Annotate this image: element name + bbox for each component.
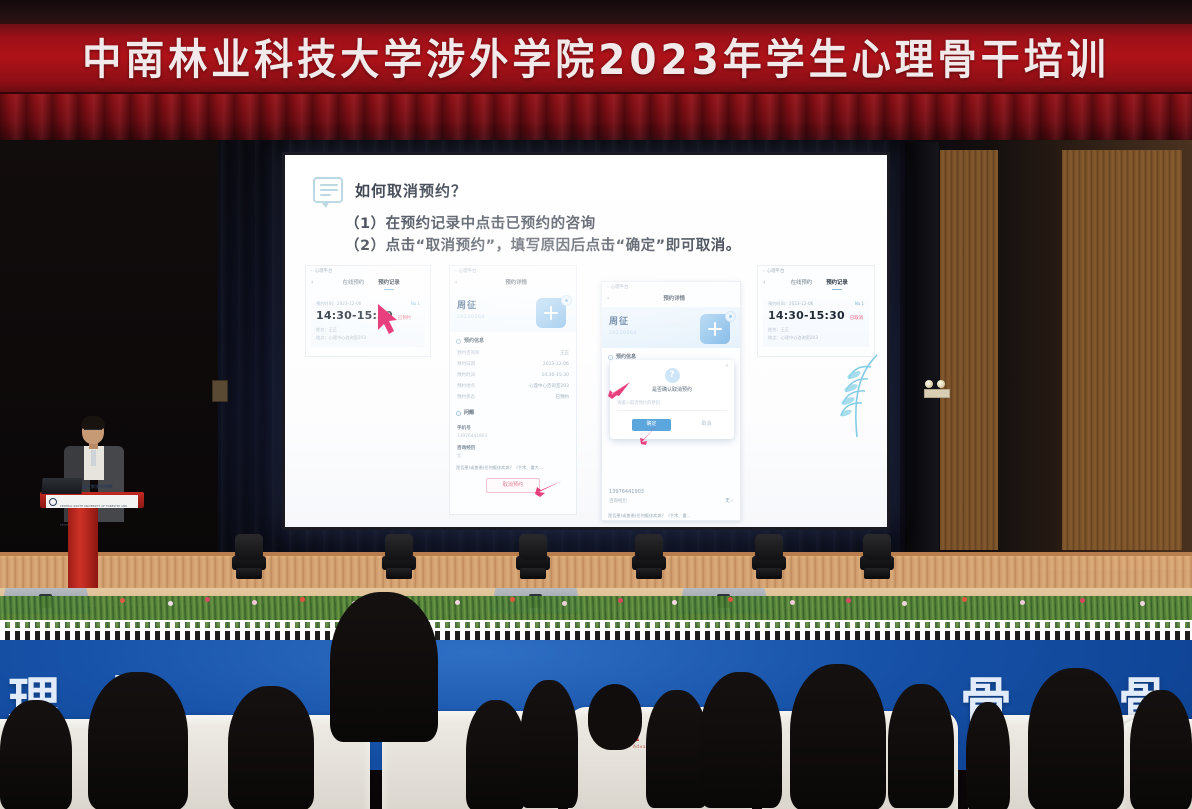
back-chevron-icon[interactable]: ‹ [607, 285, 609, 292]
phone2-phone-block: 手机号 13976441903 [450, 421, 576, 441]
cursor-arrow-icon [533, 477, 563, 499]
stage-light [382, 534, 416, 582]
phone2-breadcrumb: ‹ 心理平台 [450, 266, 576, 276]
phone4-record-card[interactable]: No.1 预约时间：2023-12-06 14:30-15:30 已取消 姓名：… [763, 297, 869, 347]
phone3-breadcrumb-label: 心理平台 [611, 285, 629, 292]
phone2-section-info: 预约信息 [450, 332, 576, 349]
phone2-back-icon[interactable]: ‹ [455, 280, 457, 286]
tab-booking-records[interactable]: 预约记录 [826, 279, 848, 287]
wood-panel [1062, 150, 1182, 550]
picket-fence [0, 620, 1192, 642]
phone1-back-icon[interactable]: ‹ [311, 280, 313, 286]
phone4-record-time: 14:30-15:30 [768, 308, 845, 325]
badge-icon [725, 311, 736, 322]
dialog-title: 是否确认取消预约 [617, 387, 727, 395]
phone4-record-meta: 预约时间：2023-12-06 [768, 301, 864, 307]
row-value: 14:30-15:30 [541, 373, 569, 380]
pointer-arrow-icon [638, 422, 662, 446]
phone1-record-timerow: 14:30-15:30 已预约 [316, 308, 420, 325]
phone2-section-info-label: 预约信息 [464, 338, 484, 346]
university-logo-icon [49, 498, 57, 506]
tab-booking-records[interactable]: 预约记录 [378, 279, 400, 287]
phone3-history-row: 咨询经历 无 › [602, 497, 740, 508]
question-mark-icon: ? [665, 368, 680, 383]
curtain-valance [0, 94, 1192, 142]
phone2-info-row: 预约状态 已预约 [450, 393, 576, 404]
phone2-info-row: 预约地点 心理中心咨询室203 [450, 382, 576, 393]
speech-bubble-icon [313, 177, 343, 203]
audience-member [588, 684, 642, 750]
row-key: 预约状态 [457, 395, 475, 402]
phone1-record-card[interactable]: No.1 预约时间：2023-12-06 14:30-15:30 已预约 姓名：… [311, 297, 425, 347]
phone1-record-tag: No.1 [411, 301, 420, 307]
phone2-navbar: ‹ 预约详情 [450, 276, 576, 291]
phone1-record-sub1: 姓名：王正 [316, 327, 420, 333]
phone2-history-block: 咨询经历 无 [450, 441, 576, 461]
audience-member [1028, 668, 1124, 809]
slide-line-1: （1）在预约记录中点击已预约的咨询 [345, 213, 741, 235]
phone-mockup-cancel-dialog: ‹ 心理平台 ‹ 预约详情 周征 20220560 [601, 281, 741, 521]
wood-panel [940, 150, 998, 550]
slide-title: 如何取消预约？ [355, 180, 467, 201]
podium-column [68, 508, 98, 588]
emergency-light-icon [925, 380, 949, 398]
phone4-record-tag: No.1 [855, 301, 864, 307]
section-dot-icon [456, 339, 461, 344]
phone3-question-line: 是否患(或曾患)任何躯体疾病？（手术、重… [602, 508, 740, 521]
phone2-breadcrumb-label: 心理平台 [459, 269, 477, 276]
phone1-record-sub2: 地点：心理中心咨询室203 [316, 335, 420, 341]
phone4-record-status: 已取消 [850, 316, 863, 323]
phone2-cancel-appointment-button[interactable]: 取消预约 [486, 478, 540, 494]
row-value: 心理中心咨询室203 [529, 384, 569, 391]
phone-mockup-cancelled-list: ‹ 心理平台 ‹ 在线预约 预约记录 No.1 预约时间：2023-12-06 [757, 265, 875, 357]
phone2-phone-label: 手机号 [457, 426, 569, 433]
phone3-navbar: ‹ 预约详情 [602, 292, 740, 307]
phone1-breadcrumb-label: 心理平台 [315, 269, 333, 276]
back-chevron-icon[interactable]: ‹ [311, 269, 313, 276]
stage-light [752, 534, 786, 582]
phone4-record-sub1: 姓名：王正 [768, 327, 864, 333]
auditorium-scene: 中南林业科技大学涉外学院2023年学生心理骨干培训 如何取消预约？ （1）在预约… [0, 0, 1192, 809]
phone2-info-row: 预约咨询师 王正 [450, 349, 576, 360]
row-key: 咨询经历 [609, 499, 627, 506]
phone2-question-line: 是否患(或曾患)任何躯体疾病？（手术、重大… [450, 460, 576, 473]
phone2-hero: 周征 20220560 [450, 291, 576, 332]
phone2-section-question: 问题 [450, 404, 576, 421]
phone1-navbar: ‹ 在线预约 预约记录 [306, 276, 430, 291]
row-value: 无 › [725, 499, 733, 506]
podium-top: 中南林业科技大学涉外学院 CENTRAL SOUTH UNIVERSITY OF… [40, 492, 144, 508]
audience-member [520, 680, 578, 808]
slide-line-2: （2）点击“取消预约”，填写原因后点击“确定”即可取消。 [345, 235, 741, 257]
phone2-section-question-label: 问题 [464, 410, 474, 418]
phone3-phone-value: 13976441903 [609, 489, 733, 497]
presentation-slide: 如何取消预约？ （1）在预约记录中点击已预约的咨询 （2）点击“取消预约”，填写… [285, 155, 887, 527]
phone1-record-meta: 预约时间：2023-12-06 [316, 301, 420, 307]
presenter-laptop [41, 478, 82, 494]
row-key: 预约地点 [457, 384, 475, 391]
row-value: 王正 [560, 351, 569, 358]
stage-light [516, 534, 550, 582]
row-key: 预约咨询师 [457, 351, 480, 358]
phone4-record-timerow: 14:30-15:30 已取消 [768, 308, 864, 325]
wall-sign [212, 380, 228, 402]
audience-member [646, 690, 708, 808]
phone4-record-sub2: 地点：心理中心咨询室203 [768, 335, 864, 341]
phone3-page-title: 预约详情 [613, 295, 735, 303]
dialog-actions: 确定 取消 [617, 419, 727, 432]
phone2-info-row: 预约日期 2023-12-06 [450, 360, 576, 371]
phone4-back-icon[interactable]: ‹ [763, 280, 765, 286]
tab-online-booking[interactable]: 在线预约 [791, 279, 813, 287]
back-chevron-icon[interactable]: ‹ [455, 269, 457, 276]
pointer-arrow-icon [606, 378, 632, 400]
audience-member [466, 700, 526, 809]
ceiling [0, 0, 1192, 26]
close-icon[interactable]: × [725, 363, 729, 371]
phone3-hero: 周征 20220560 [602, 307, 740, 348]
phone4-navbar: ‹ 在线预约 预约记录 [758, 276, 874, 291]
badge-icon [561, 295, 572, 306]
phone2-page-title: 预约详情 [461, 279, 571, 287]
phone4-tabs: 在线预约 预约记录 [769, 279, 869, 287]
phone4-breadcrumb: ‹ 心理平台 [758, 266, 874, 276]
phone1-breadcrumb: ‹ 心理平台 [306, 266, 430, 276]
stage-light [232, 534, 266, 582]
row-key: 预约日期 [457, 362, 475, 369]
audience-member [790, 664, 886, 809]
phone2-history-label: 咨询经历 [457, 446, 569, 453]
section-dot-icon [456, 411, 461, 416]
phone4-breadcrumb-label: 心理平台 [767, 269, 785, 276]
slide-body: （1）在预约记录中点击已预约的咨询 （2）点击“取消预约”，填写原因后点击“确定… [345, 213, 741, 258]
row-value: 2023-12-06 [543, 362, 569, 369]
audience-member [228, 686, 314, 809]
dialog-cancel-button[interactable]: 取消 [701, 421, 711, 429]
audience-member [888, 684, 954, 808]
audience-member [1130, 690, 1192, 809]
podium: 中南林业科技大学涉外学院 CENTRAL SOUTH UNIVERSITY OF… [40, 492, 144, 588]
tab-online-booking[interactable]: 在线预约 [343, 279, 365, 287]
phone-mockup-appointment-list: ‹ 心理平台 ‹ 在线预约 预约记录 No.1 预约时间：2023-12-06 [305, 265, 431, 357]
audience-member [88, 672, 188, 809]
row-value: 已预约 [556, 395, 570, 402]
audience-member [966, 702, 1010, 809]
phone3-back-icon[interactable]: ‹ [607, 296, 609, 302]
slide-heading: 如何取消预约？ [313, 177, 467, 203]
event-banner: 中南林业科技大学涉外学院2023年学生心理骨干培训 [0, 24, 1192, 96]
phone1-tabs: 在线预约 预约记录 [317, 279, 425, 287]
stage-base-panel [0, 556, 1192, 590]
projection-screen: 如何取消预约？ （1）在预约记录中点击已预约的咨询 （2）点击“取消预约”，填写… [282, 152, 890, 530]
banner-title: 中南林业科技大学涉外学院2023年学生心理骨干培训 [82, 39, 1110, 81]
phone2-info-row: 预约时间 14:30-15:30 [450, 371, 576, 382]
stage-light [632, 534, 666, 582]
stage-light [860, 534, 894, 582]
cursor-arrow-icon [373, 302, 401, 336]
podium-sign: 中南林业科技大学涉外学院 CENTRAL SOUTH UNIVERSITY OF… [46, 495, 138, 508]
row-key: 预约时间 [457, 373, 475, 380]
back-chevron-icon[interactable]: ‹ [763, 269, 765, 276]
phone3-phone-block: 13976441903 [602, 483, 740, 497]
wall-pillar [905, 142, 939, 562]
audience-member [700, 672, 782, 808]
phone3-breadcrumb: ‹ 心理平台 [602, 282, 740, 292]
audience-member [0, 700, 72, 809]
cancel-reason-input[interactable]: 请输入取消预约的原因 [617, 401, 727, 411]
audience-member [330, 592, 438, 742]
